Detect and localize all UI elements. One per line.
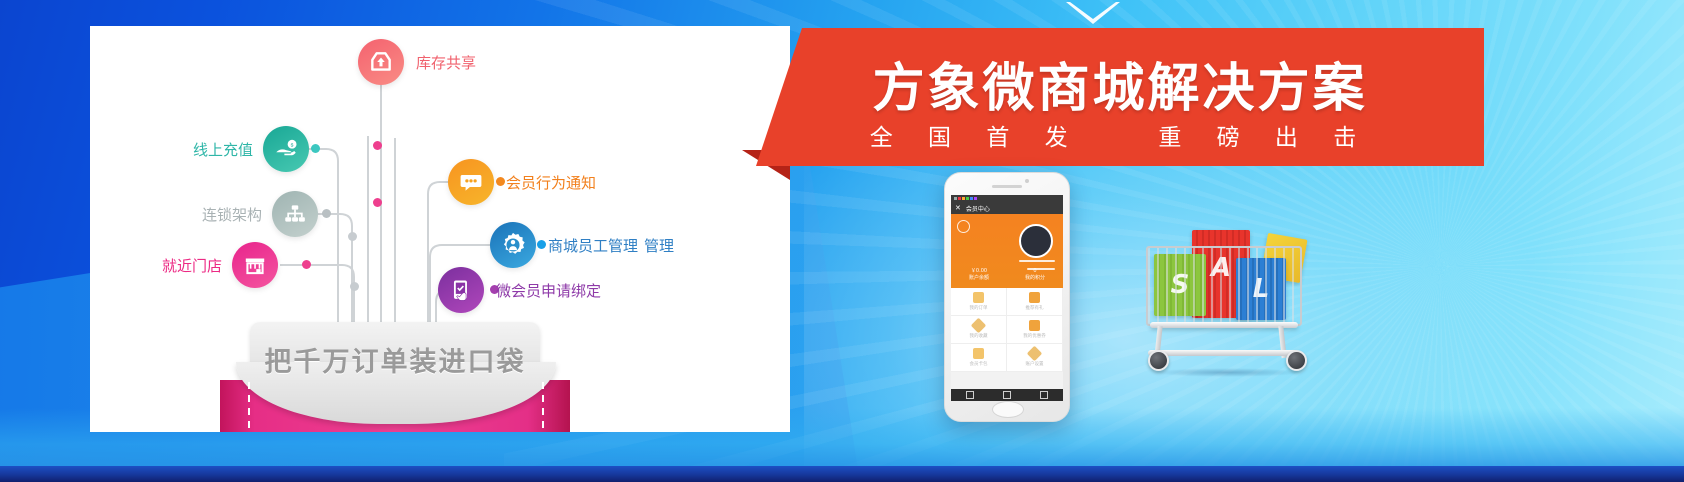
feature-node-chain[interactable]: 连锁架构 [202, 191, 318, 237]
order-icon [973, 292, 984, 303]
cart-wheel [1148, 350, 1169, 371]
background-bottom-strip [0, 466, 1684, 482]
connector-dot [302, 260, 311, 269]
feature-label: 会员行为通知 [506, 172, 596, 193]
inbox-upload-icon [358, 39, 404, 85]
connector-dot [348, 232, 357, 241]
phone-badge-icon [957, 220, 970, 233]
phone-menu-grid[interactable]: 我的订单 推荐有礼 我的收藏 我的优惠券 会员卡包 [951, 288, 1063, 372]
phone-speaker [992, 185, 1022, 188]
phone-screen[interactable]: ✕ 会员中心 ￥0.00 账户余额 0 我的积分 [951, 195, 1063, 393]
phone-stat: 0 我的积分 [1007, 268, 1063, 282]
connector-dot [322, 209, 331, 218]
chat-bubble-icon [448, 159, 494, 205]
phone-camera [1025, 179, 1029, 183]
gift-icon [1029, 292, 1040, 303]
phone-stats: ￥0.00 账户余额 0 我的积分 [951, 268, 1063, 282]
tagline-text: 把千万订单装进口袋 [250, 340, 540, 379]
feature-panel: 库存共享 线上充值 $ 连锁架构 [90, 26, 790, 432]
membercard-icon [973, 348, 984, 359]
headline-subtitle: 全 国 首 发 重 磅 出 击 [756, 118, 1484, 152]
settings-icon [1027, 346, 1043, 362]
feature-label: 商城员工管理 [548, 235, 638, 256]
pocket-stitch-left [248, 382, 250, 432]
subtitle-left: 全 国 首 发 [870, 125, 1082, 151]
subtitle-right: 重 磅 出 击 [1158, 125, 1370, 151]
connector-dot [311, 144, 320, 153]
cart-basket [1146, 246, 1302, 326]
phone-mockup: ✕ 会员中心 ￥0.00 账户余额 0 我的积分 [944, 172, 1070, 422]
recents-icon[interactable] [1040, 391, 1048, 399]
phone-statusbar [951, 195, 1063, 202]
phone-home-button[interactable] [992, 401, 1024, 418]
cart-base-bar [1148, 350, 1298, 356]
feature-label: 微会员申请绑定 [496, 280, 601, 301]
feature-node-notify[interactable]: 会员行为通知 [448, 159, 596, 205]
phone-menu-item[interactable]: 我的收藏 [951, 316, 1007, 344]
tablet-check-icon [438, 267, 484, 313]
feature-node-staff[interactable]: 商城员工管理 管理 [490, 222, 674, 268]
phone-nav-title: 会员中心 [966, 204, 990, 213]
connector-dot [373, 141, 382, 150]
feature-label: 库存共享 [416, 52, 476, 73]
phone-menu-item[interactable]: 推荐有礼 [1007, 288, 1063, 316]
phone-navbar[interactable]: ✕ 会员中心 [951, 202, 1063, 214]
feature-node-recharge[interactable]: 线上充值 $ [193, 126, 309, 172]
favorite-icon [971, 318, 987, 334]
cart-wheel [1286, 350, 1307, 371]
feature-mindmap: 库存共享 线上充值 $ 连锁架构 [90, 26, 790, 432]
feature-label: 就近门店 [162, 255, 222, 276]
headline-title: 方象微商城解决方案 [756, 46, 1484, 121]
feature-label: 连锁架构 [202, 204, 262, 225]
feature-node-stock[interactable]: 库存共享 [358, 39, 476, 85]
phone-menu-item[interactable]: 会员卡包 [951, 344, 1007, 372]
phone-stat: ￥0.00 账户余额 [951, 268, 1007, 282]
connector-dot [373, 198, 382, 207]
coupon-icon [1029, 320, 1040, 331]
promo-banner: 库存共享 线上充值 $ 连锁架构 [0, 0, 1684, 482]
feature-label-overflow: 管理 [644, 235, 674, 256]
pocket-stitch-right [542, 382, 544, 432]
phone-menu-item[interactable]: 我的优惠券 [1007, 316, 1063, 344]
cart-shadow [1152, 368, 1302, 377]
cart-body [1150, 322, 1298, 328]
shopping-cart-graphic: A L S [1138, 218, 1318, 368]
phone-close-icon[interactable]: ✕ [955, 205, 961, 212]
feature-node-store[interactable]: 就近门店 [162, 242, 278, 288]
phone-menu-item[interactable]: 账户设置 [1007, 344, 1063, 372]
gear-user-icon [490, 222, 536, 268]
avatar [1019, 224, 1053, 258]
storefront-icon [232, 242, 278, 288]
back-icon[interactable] [966, 391, 974, 399]
feature-label: 线上充值 [193, 139, 253, 160]
phone-profile-header: ￥0.00 账户余额 0 我的积分 [951, 214, 1063, 288]
phone-softkeys[interactable] [951, 389, 1063, 401]
phone-menu-item[interactable]: 我的订单 [951, 288, 1007, 316]
org-chart-icon [272, 191, 318, 237]
svg-text:$: $ [291, 142, 294, 148]
headline-ribbon: 方象微商城解决方案 全 国 首 发 重 磅 出 击 [756, 28, 1484, 166]
home-icon[interactable] [1003, 391, 1011, 399]
feature-node-bind[interactable]: 微会员申请绑定 [438, 267, 601, 313]
hand-coin-icon: $ [263, 126, 309, 172]
connector-dot [350, 282, 359, 291]
